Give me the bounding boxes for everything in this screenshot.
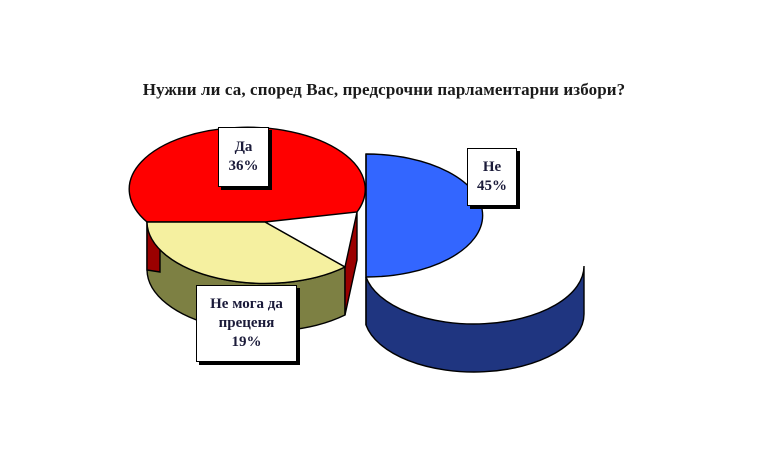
data-label-ne-value: 45%: [477, 177, 507, 196]
data-label-da-value: 36%: [229, 157, 259, 176]
data-label-da: Да 36%: [218, 127, 269, 187]
data-label-neznam-name-line2: преценя: [219, 314, 275, 333]
pie-slice-top-ne: [366, 154, 483, 277]
data-label-neznam-name-line1: Не мога да: [210, 295, 283, 314]
pie-slice-side-da-right: [345, 212, 357, 315]
data-label-ne: Не 45%: [467, 148, 517, 206]
pie-slice-side-ne: [366, 266, 584, 372]
data-label-neznam-value: 19%: [232, 333, 262, 352]
data-label-neznam: Не мога да преценя 19%: [196, 285, 297, 362]
pie-chart-figure: Нужни ли са, според Вас, предсрочни парл…: [0, 0, 768, 464]
data-label-ne-name: Не: [483, 158, 501, 177]
data-label-da-name: Да: [235, 138, 253, 157]
pie-chart-graphic: [0, 0, 768, 464]
